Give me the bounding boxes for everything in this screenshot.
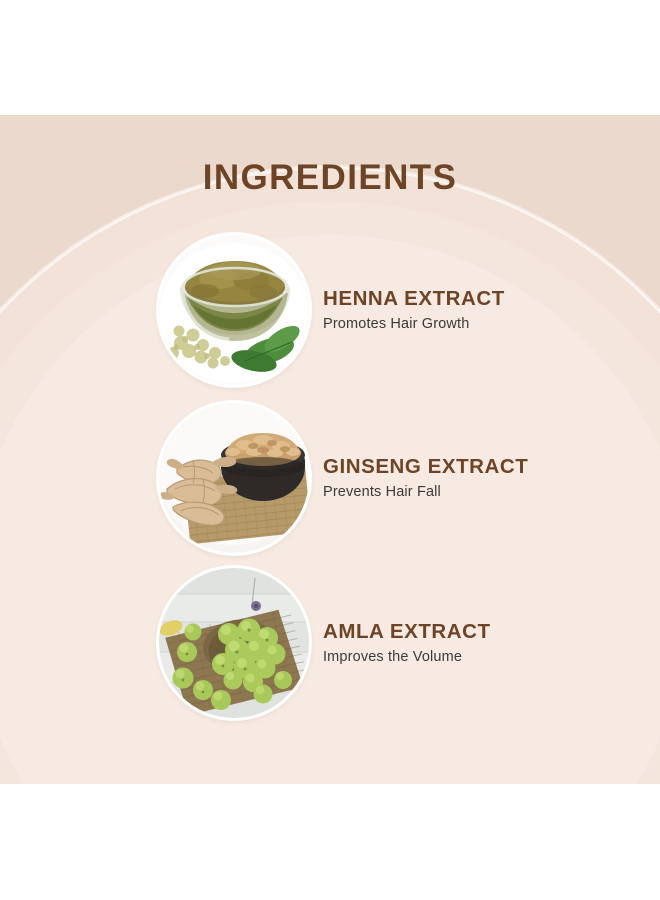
- ginseng-root-image: [159, 403, 309, 553]
- ingredient-row-henna: HENNA EXTRACT Promotes Hair Growth: [0, 235, 660, 385]
- ingredient-description: Prevents Hair Fall: [323, 483, 528, 503]
- amla-berries-image: [159, 568, 309, 718]
- ingredient-description: Improves the Volume: [323, 648, 491, 668]
- page-title: INGREDIENTS: [0, 158, 660, 198]
- ingredient-text-henna: HENNA EXTRACT Promotes Hair Growth: [323, 286, 505, 334]
- ingredient-row-amla: AMLA EXTRACT Improves the Volume: [0, 568, 660, 718]
- ingredients-infographic: INGREDIENTS: [0, 0, 660, 900]
- ingredient-text-ginseng: GINSENG EXTRACT Prevents Hair Fall: [323, 454, 528, 502]
- ingredient-thumbnail-henna: [159, 235, 309, 385]
- henna-bowl-image: [159, 235, 309, 385]
- ingredient-row-ginseng: GINSENG EXTRACT Prevents Hair Fall: [0, 403, 660, 553]
- ingredient-name: AMLA EXTRACT: [323, 619, 491, 645]
- ingredient-text-amla: AMLA EXTRACT Improves the Volume: [323, 619, 491, 667]
- ingredient-thumbnail-amla: [159, 568, 309, 718]
- ingredient-name: GINSENG EXTRACT: [323, 454, 528, 480]
- ingredient-name: HENNA EXTRACT: [323, 286, 505, 312]
- ingredient-description: Promotes Hair Growth: [323, 315, 505, 335]
- ingredient-thumbnail-ginseng: [159, 403, 309, 553]
